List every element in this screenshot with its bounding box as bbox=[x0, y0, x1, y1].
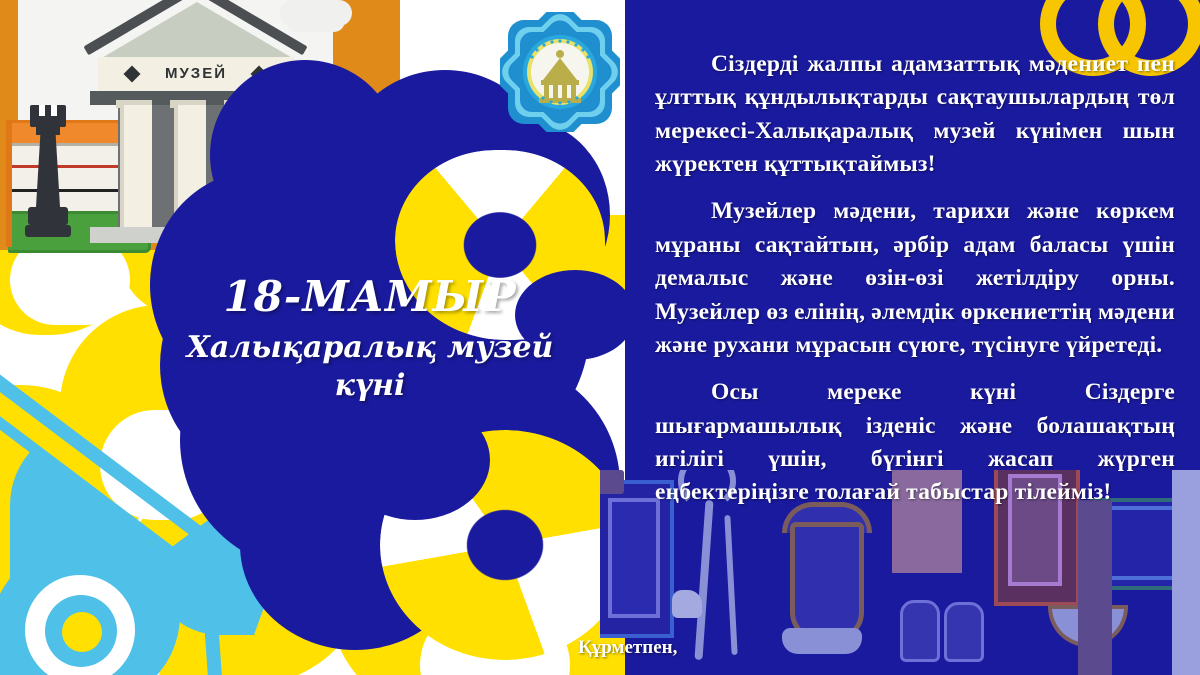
column-icon bbox=[1172, 470, 1200, 675]
yellow-spiral-ornament-icon bbox=[1040, 0, 1190, 44]
signature-label: Құрметпен, bbox=[578, 637, 677, 659]
message-paragraph-2: Музейлер мәдени, тарихи және көркем мұра… bbox=[655, 195, 1175, 362]
title-date: 18-МАМЫР bbox=[160, 275, 580, 319]
jar-icon bbox=[900, 600, 940, 662]
yellow-spiral-ornament-icon bbox=[380, 430, 630, 660]
column-icon bbox=[1078, 500, 1112, 675]
title-line-1: Халықаралық музей bbox=[160, 329, 580, 367]
message-paragraph-1: Сіздерді жалпы адамзаттық мәдениет пен ұ… bbox=[655, 48, 1175, 181]
amphora-icon bbox=[790, 522, 864, 642]
chess-rook-icon bbox=[28, 105, 68, 250]
column-icon bbox=[600, 470, 624, 494]
poster-canvas: МУЗЕЙ bbox=[0, 0, 1200, 675]
poster-title: 18-МАМЫР Халықаралық музей күні bbox=[160, 275, 580, 404]
title-line-2: күні bbox=[160, 367, 580, 405]
kazakhstan-museum-emblem bbox=[500, 12, 620, 132]
artifact-handle-icon bbox=[672, 590, 702, 618]
greeting-message: Сіздерді жалпы адамзаттық мәдениет пен ұ… bbox=[655, 48, 1175, 510]
picture-frame-icon bbox=[608, 498, 660, 618]
message-paragraph-3: Осы мереке күні Сіздерге шығармашылық із… bbox=[655, 376, 1175, 509]
artifact-tool-icon bbox=[694, 500, 713, 660]
amphora-base-icon bbox=[782, 628, 862, 654]
artifact-tool-icon bbox=[724, 515, 737, 655]
jar-icon bbox=[944, 602, 984, 662]
